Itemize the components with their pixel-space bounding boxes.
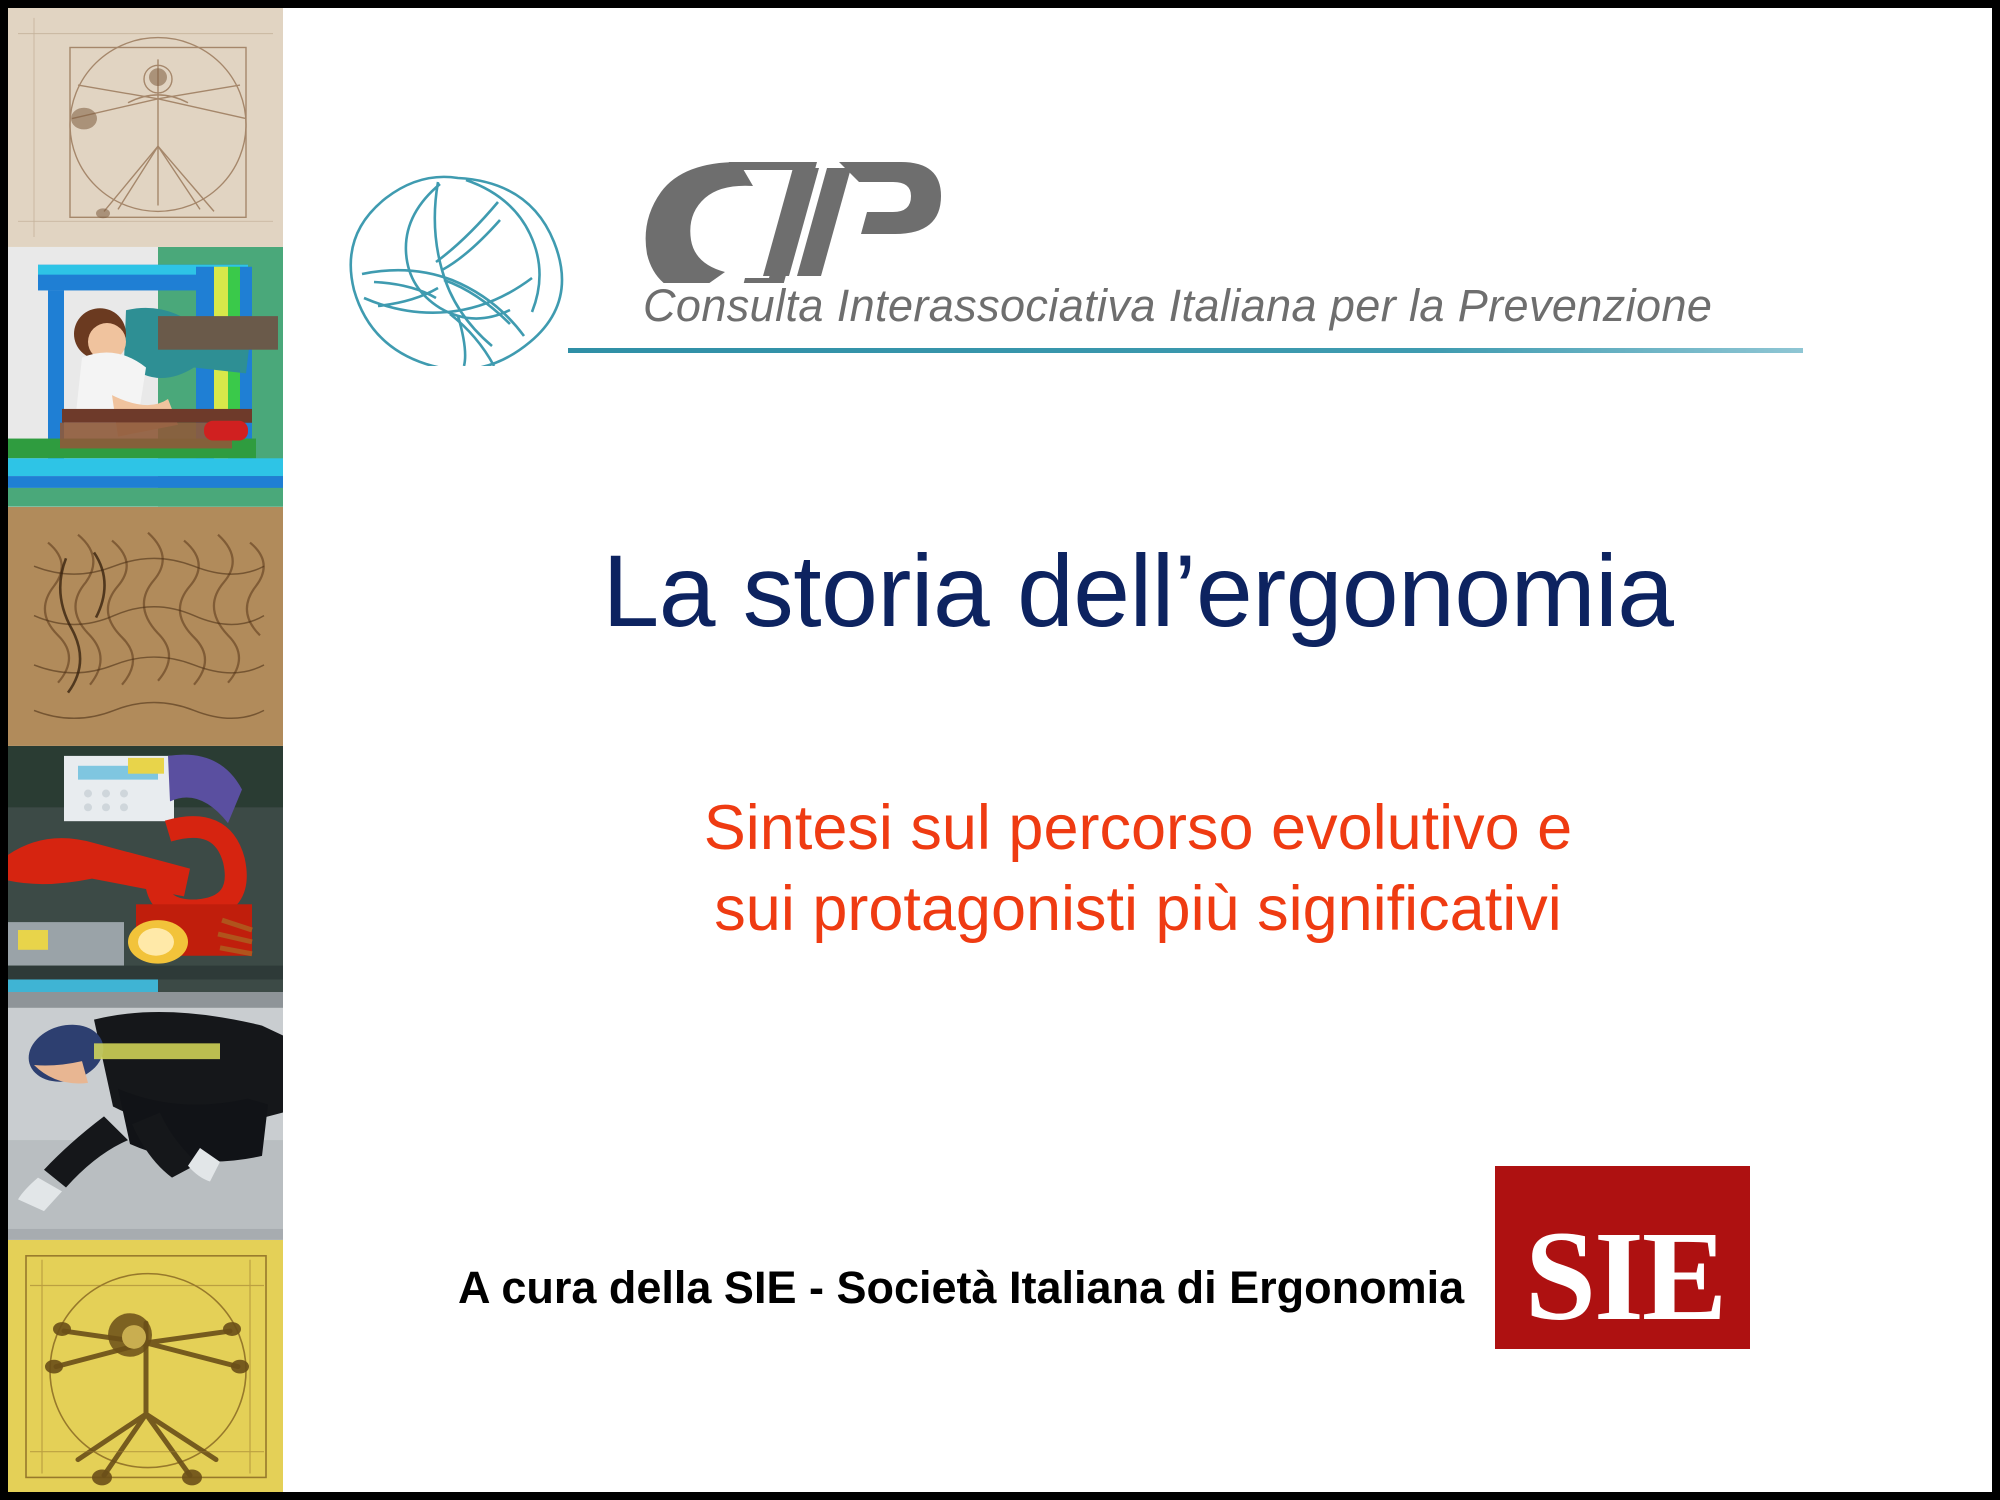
image-filmstrip	[8, 8, 283, 1492]
presentation-slide: Consulta Interassociativa Italiana per l…	[0, 0, 2000, 1500]
ciip-wordmark-icon	[643, 158, 943, 283]
vitruvian-sketch-image	[8, 8, 283, 247]
page-subtitle: Sintesi sul percorso evolutivo e sui pro…	[283, 788, 1992, 949]
list-item	[8, 1240, 283, 1492]
anatomical-hair-study-image	[8, 507, 283, 746]
page-title: La storia dell’ergonomia	[283, 538, 1992, 645]
subtitle-line-1: Sintesi sul percorso evolutivo e	[283, 788, 1992, 869]
industrial-operator-image	[8, 746, 283, 992]
vitruvian-yellow-image	[8, 1240, 283, 1492]
list-item	[8, 247, 283, 507]
list-item	[8, 8, 283, 247]
list-item	[8, 746, 283, 992]
sie-logo: SIE	[1480, 1158, 1770, 1363]
ciip-tagline: Consulta Interassociativa Italiana per l…	[643, 280, 1712, 332]
ciip-logo-block: Consulta Interassociativa Italiana per l…	[338, 158, 1858, 368]
subtitle-line-2: sui protagonisti più significativi	[283, 869, 1992, 950]
protective-gear-worker-image	[8, 992, 283, 1240]
list-item	[8, 992, 283, 1240]
credit-line: A cura della SIE - Società Italiana di E…	[458, 1262, 1464, 1314]
slide-canvas: Consulta Interassociativa Italiana per l…	[8, 8, 1992, 1492]
list-item	[8, 507, 283, 746]
sie-logo-text: SIE	[1480, 1212, 1770, 1340]
ergonomic-simulation-image	[8, 247, 283, 507]
ciip-pinwheel-icon	[338, 166, 578, 366]
header-divider-rule	[568, 348, 1803, 353]
